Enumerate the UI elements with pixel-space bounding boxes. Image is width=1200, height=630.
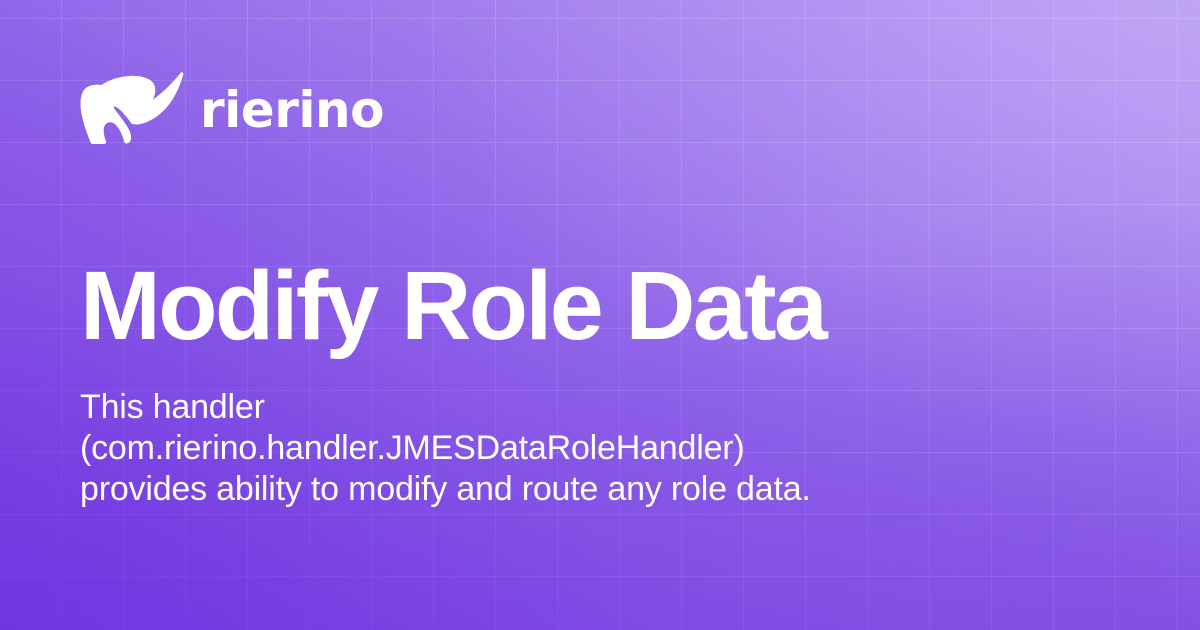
card-content: rierino Modify Role Data This handler (c… (0, 0, 1200, 630)
page-title: Modify Role Data (80, 255, 1040, 358)
brand-wordmark: rierino (200, 85, 384, 135)
open-graph-card: rierino Modify Role Data This handler (c… (0, 0, 1200, 630)
rhino-logo-icon (80, 72, 184, 144)
brand-lockup: rierino (80, 68, 384, 148)
page-description: This handler (com.rierino.handler.JMESDa… (80, 387, 870, 510)
